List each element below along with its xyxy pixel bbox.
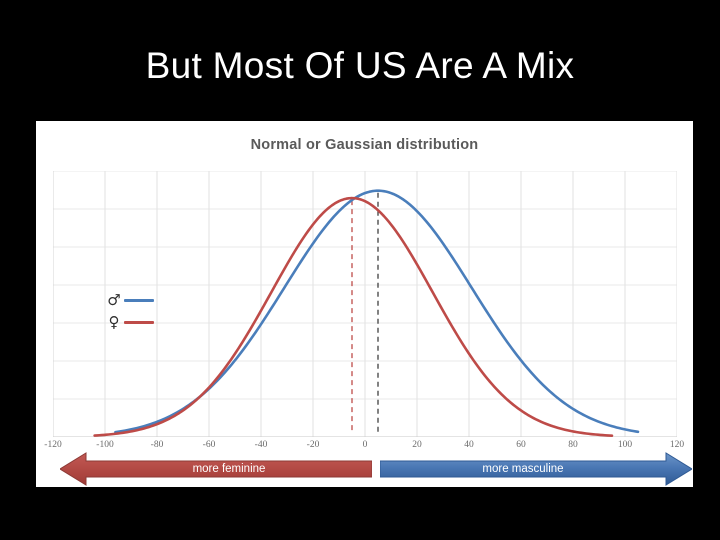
x-tick-label: 80 bbox=[551, 439, 595, 451]
spectrum-arrows: more feminine more masculine bbox=[36, 451, 693, 487]
x-tick-label: 20 bbox=[395, 439, 439, 451]
chart-panel: Normal or Gaussian distribution -120-100… bbox=[36, 121, 693, 487]
legend-item-male: ♂ bbox=[106, 289, 178, 311]
legend-item-female: ♀ bbox=[106, 311, 178, 333]
x-tick-label: 0 bbox=[343, 439, 387, 451]
x-tick-label: -60 bbox=[187, 439, 231, 451]
x-tick-label: 60 bbox=[499, 439, 543, 451]
more-feminine-label: more feminine bbox=[86, 451, 372, 487]
x-tick-label: -40 bbox=[239, 439, 283, 451]
chart-title: Normal or Gaussian distribution bbox=[36, 137, 693, 153]
x-tick-label: -20 bbox=[291, 439, 335, 451]
x-tick-label: -80 bbox=[135, 439, 179, 451]
page-title: But Most Of US Are A Mix bbox=[0, 44, 720, 88]
chart-legend: ♂♀ bbox=[106, 289, 178, 333]
legend-swatch-male bbox=[124, 299, 154, 302]
x-tick-label: 100 bbox=[603, 439, 647, 451]
more-masculine-label: more masculine bbox=[380, 451, 666, 487]
x-tick-label: -120 bbox=[31, 439, 75, 451]
x-tick-label: 40 bbox=[447, 439, 491, 451]
slide: But Most Of US Are A Mix Normal or Gauss… bbox=[0, 0, 720, 540]
x-tick-label: -100 bbox=[83, 439, 127, 451]
legend-swatch-female bbox=[124, 321, 154, 324]
male-symbol-icon: ♂ bbox=[106, 292, 122, 308]
female-symbol-icon: ♀ bbox=[106, 314, 122, 330]
x-tick-label: 120 bbox=[655, 439, 699, 451]
more-masculine-arrow: more masculine bbox=[380, 451, 692, 487]
curve-male bbox=[115, 191, 638, 432]
more-feminine-arrow: more feminine bbox=[60, 451, 372, 487]
